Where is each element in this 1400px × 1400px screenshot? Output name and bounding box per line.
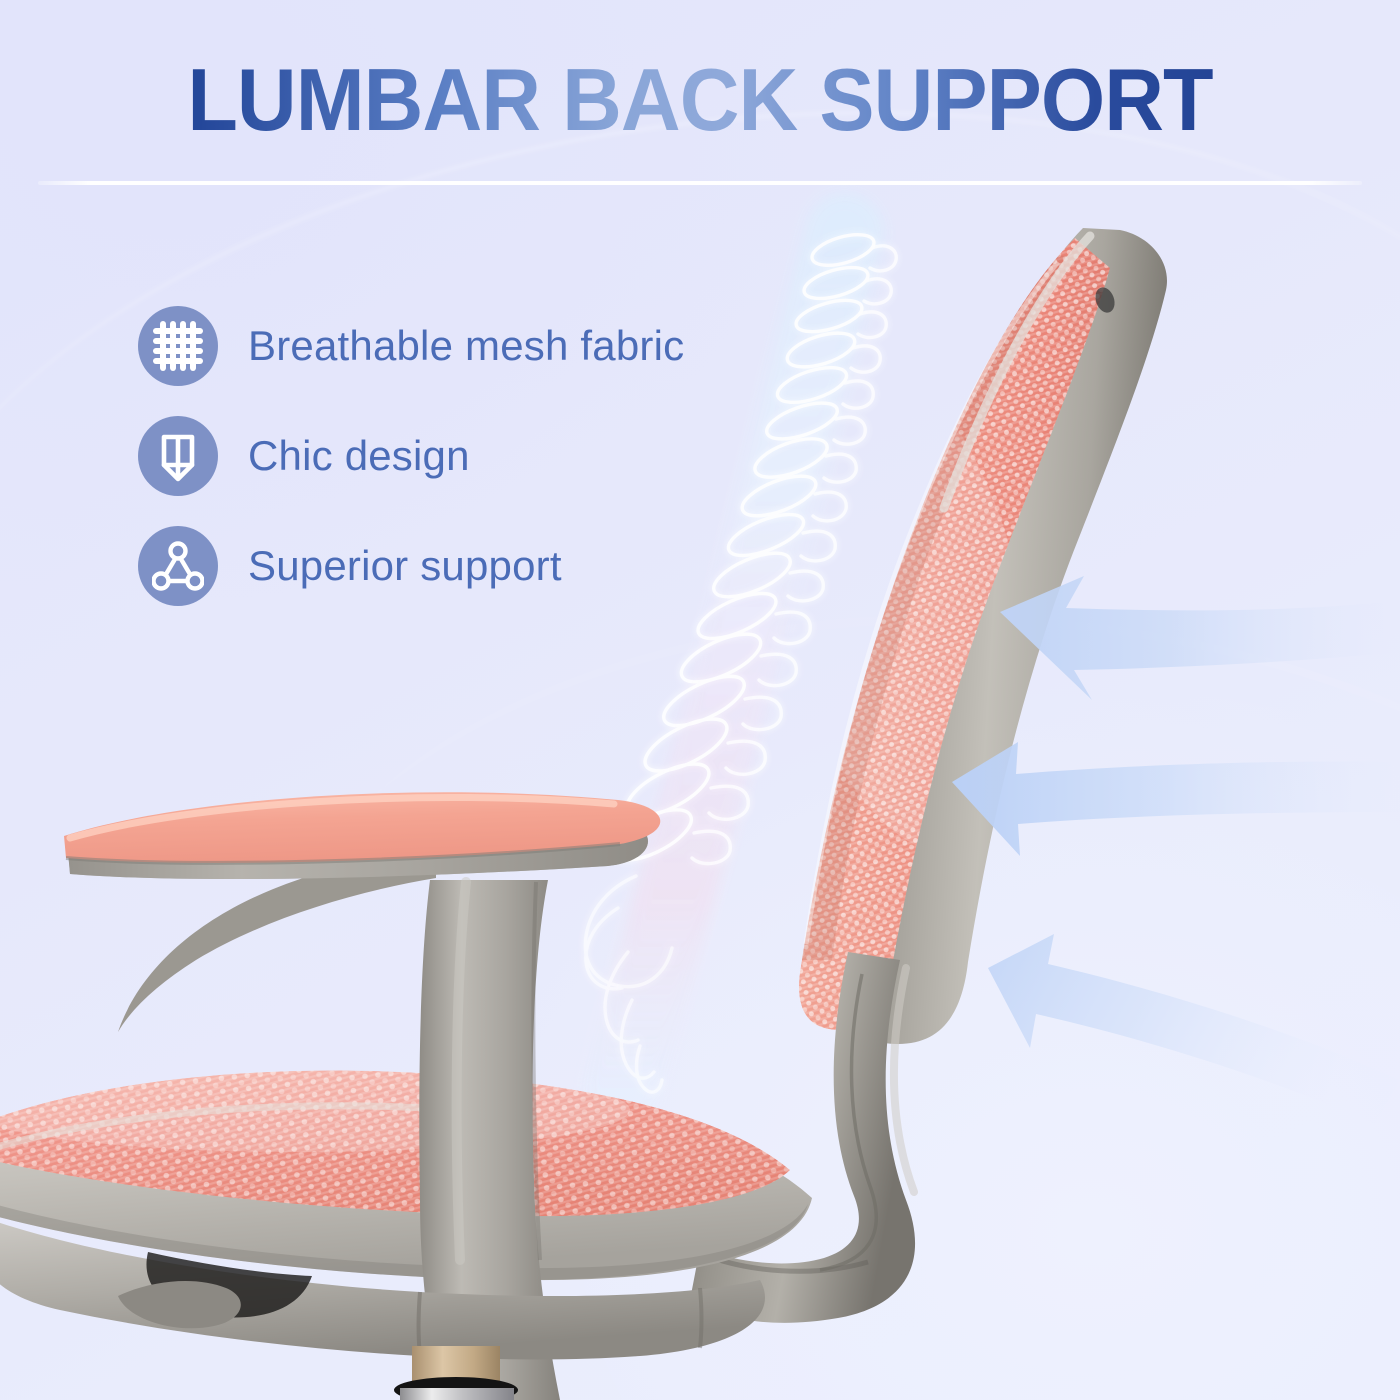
- feature-item-breathable-mesh: Breathable mesh fabric: [138, 300, 684, 392]
- feature-list: Breathable mesh fabric Chic design: [138, 300, 684, 630]
- support-nodes-icon: [138, 526, 218, 606]
- page-title: LUMBAR BACK SUPPORT: [42, 56, 1358, 144]
- feature-label: Chic design: [248, 432, 470, 480]
- title-divider: [38, 181, 1362, 185]
- product-infographic: LUMBAR BACK SUPPORT: [0, 0, 1400, 1400]
- feature-item-chic-design: Chic design: [138, 410, 684, 502]
- chair-illustration: [0, 0, 1400, 1400]
- feature-label: Breathable mesh fabric: [248, 322, 684, 370]
- feature-label: Superior support: [248, 542, 562, 590]
- mesh-grid-icon: [138, 306, 218, 386]
- pencil-icon: [138, 416, 218, 496]
- feature-item-superior-support: Superior support: [138, 520, 684, 612]
